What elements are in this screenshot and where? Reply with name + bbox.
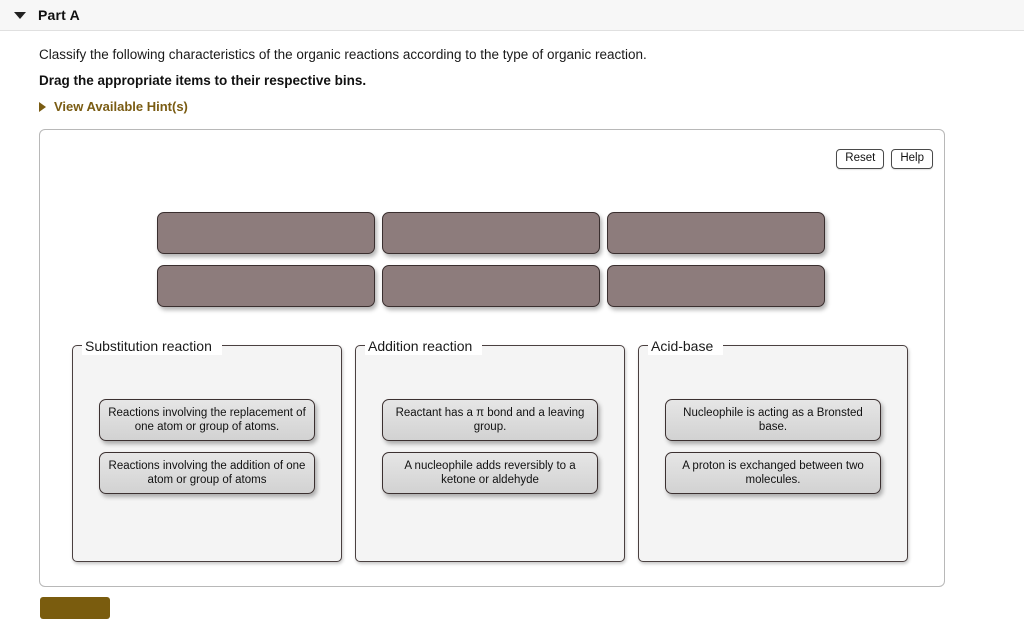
drag-slots-tray (157, 212, 825, 307)
bin-item[interactable]: Nucleophile is acting as a Bronsted base… (665, 399, 881, 441)
panel-toolbar: Reset Help (836, 149, 933, 169)
bin-items: Nucleophile is acting as a Bronsted base… (639, 399, 907, 494)
activity-panel: Reset Help Substitution reaction Reactio… (39, 129, 945, 587)
bin-item[interactable]: Reactions involving the addition of one … (99, 452, 315, 494)
drag-slot[interactable] (607, 212, 825, 254)
reset-button[interactable]: Reset (836, 149, 884, 169)
drag-slot[interactable] (607, 265, 825, 307)
drag-slot[interactable] (157, 212, 375, 254)
bin-item[interactable]: A proton is exchanged between two molecu… (665, 452, 881, 494)
bins-row: Substitution reaction Reactions involvin… (72, 345, 908, 562)
bin-title: Acid-base (648, 337, 723, 355)
bin-items: Reactions involving the replacement of o… (73, 399, 341, 494)
bin-acid-base[interactable]: Acid-base Nucleophile is acting as a Bro… (638, 345, 908, 562)
instruction-text: Classify the following characteristics o… (39, 47, 1024, 62)
triangle-right-icon (39, 102, 46, 112)
drag-slot[interactable] (157, 265, 375, 307)
bin-item[interactable]: A nucleophile adds reversibly to a keton… (382, 452, 598, 494)
view-hints-link[interactable]: View Available Hint(s) (39, 99, 1024, 114)
view-hints-label: View Available Hint(s) (54, 99, 188, 114)
bin-items: Reactant has a π bond and a leaving grou… (356, 399, 624, 494)
help-button[interactable]: Help (891, 149, 933, 169)
bin-addition-reaction[interactable]: Addition reaction Reactant has a π bond … (355, 345, 625, 562)
page-title: Part A (38, 7, 80, 23)
submit-button[interactable] (40, 597, 110, 619)
bin-title: Addition reaction (365, 337, 482, 355)
bin-title: Substitution reaction (82, 337, 222, 355)
bin-item[interactable]: Reactant has a π bond and a leaving grou… (382, 399, 598, 441)
triangle-down-icon[interactable] (14, 12, 26, 19)
drag-slot[interactable] (382, 265, 600, 307)
directive-text: Drag the appropriate items to their resp… (39, 73, 1024, 88)
bin-substitution-reaction[interactable]: Substitution reaction Reactions involvin… (72, 345, 342, 562)
part-header-bar: Part A (0, 0, 1024, 31)
bin-item[interactable]: Reactions involving the replacement of o… (99, 399, 315, 441)
prompt-area: Classify the following characteristics o… (0, 31, 1024, 114)
drag-slot[interactable] (382, 212, 600, 254)
